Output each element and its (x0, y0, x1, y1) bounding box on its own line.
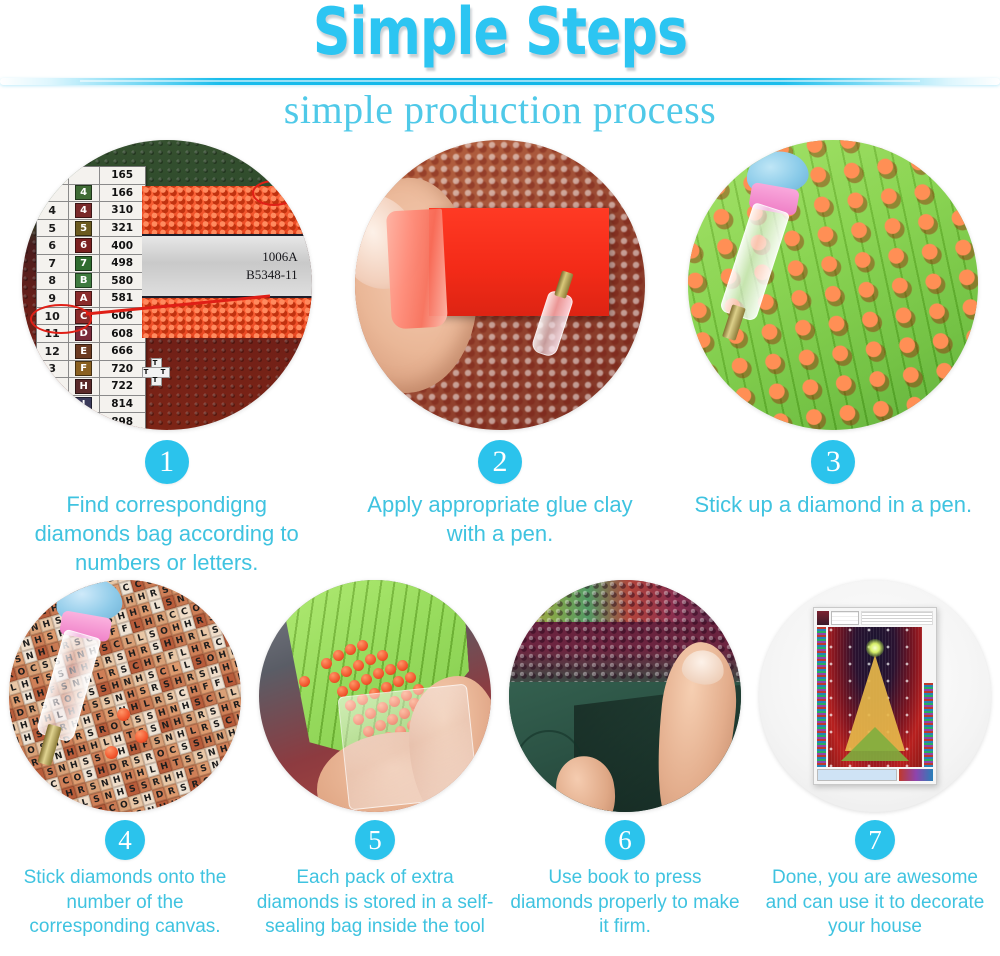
legend-row: 8B580 (37, 273, 145, 291)
step-caption-3: Stick up a diamond in a pen. (695, 490, 973, 519)
page-title: Simple Steps (50, 0, 950, 66)
instruction-text-block (861, 611, 933, 625)
diamond-bead (357, 640, 368, 651)
diamond-bead (377, 650, 388, 661)
clay-protective-film (386, 209, 448, 330)
step-badge-7: 7 (855, 820, 895, 860)
page-subtitle: simple production process (0, 86, 1000, 133)
header: Simple Steps simple production process (0, 0, 1000, 140)
legend-row-number (37, 396, 69, 413)
color-key-table (831, 611, 859, 625)
legend-row: 898 (37, 413, 145, 430)
diamond-bead (345, 644, 356, 655)
diamond-bead (341, 666, 352, 677)
step-3-photo (688, 140, 978, 430)
legend-row-number: 3 (37, 361, 69, 378)
legend-row-symbol: 5 (69, 220, 100, 237)
legend-row: 12E666 (37, 343, 145, 361)
legend-row: H722 (37, 378, 145, 396)
diamond-bead (329, 672, 340, 683)
legend-row-number: 5 (37, 220, 69, 237)
diamond-bead (299, 676, 310, 687)
diamond-bead (353, 660, 364, 671)
legend-row-symbol: H (69, 378, 100, 395)
simple-steps-infographic: Simple Steps simple production process 1… (0, 0, 1000, 956)
legend-row-code: 400 (100, 237, 145, 254)
step-badge-5: 5 (355, 820, 395, 860)
legend-row-symbol: J (69, 396, 100, 413)
legend-row: J814 (37, 396, 145, 414)
legend-row-symbol: E (69, 343, 100, 360)
footer-color-swatches (899, 769, 933, 781)
step-badge-3: 3 (811, 440, 855, 484)
diamond-bead (373, 668, 384, 679)
highlight-circle-bag-code (252, 180, 296, 206)
step-card-1: 1654166443105532166400774988B5809A58110C… (0, 140, 333, 580)
bag-label-line-2: B5348-11 (246, 266, 298, 284)
legend-row-code: 321 (100, 220, 145, 237)
step-5-photo (259, 580, 491, 812)
legend-row-symbol: 7 (69, 255, 100, 272)
legend-row-code: 666 (100, 343, 145, 360)
legend-row-number: 7 (37, 255, 69, 272)
legend-row-symbol: B (69, 273, 100, 290)
step-badge-2: 2 (478, 440, 522, 484)
legend-row-code: 165 (100, 167, 145, 184)
legend-row-code: 580 (100, 273, 145, 290)
footer-note (817, 769, 897, 781)
diamond-bead (349, 680, 360, 691)
legend-row-code: 498 (100, 255, 145, 272)
bag-label-line-1: 1006A (262, 248, 297, 266)
steps-row-bottom: SHNHSCLLSOHHRSNHHHLHTSSNHSRSHRSHHRLSNHSS… (0, 580, 1000, 956)
step-card-6: 6 Use book to press diamonds properly to… (500, 580, 750, 956)
red-glue-clay-sheet (429, 208, 609, 316)
step-card-4: SHNHSCLLSOHHRSNHHHLHTSSNHSRSHRSHHRLSNHSS… (0, 580, 250, 956)
step-2-photo (355, 140, 645, 430)
placed-bead (135, 730, 148, 743)
diamond-bead (321, 658, 332, 669)
step-caption-5: Each pack of extra diamonds is stored in… (255, 866, 495, 940)
legend-row-number: 8 (37, 273, 69, 290)
tree-base-foliage (841, 727, 909, 761)
step-caption-2: Apply appropriate glue clay with a pen. (350, 490, 650, 548)
legend-row-number: 12 (37, 343, 69, 360)
legend-row: 66400 (37, 237, 145, 255)
legend-row-code: 166 (100, 185, 145, 202)
step-card-5: 5 Each pack of extra diamonds is stored … (250, 580, 500, 956)
legend-row-number (37, 378, 69, 395)
diamond-bead (365, 654, 376, 665)
step-6-photo (509, 580, 741, 812)
legend-row-symbol (69, 413, 100, 430)
preview-thumbnail (817, 611, 829, 625)
legend-row: 44310 (37, 202, 145, 220)
step-card-3: 3 Stick up a diamond in a pen. (667, 140, 1000, 580)
diamond-bead (361, 674, 372, 685)
legend-row-number (37, 185, 69, 202)
diamond-bead (333, 650, 344, 661)
placed-bead (117, 708, 130, 721)
legend-row-symbol: 4 (69, 185, 100, 202)
fingernail (680, 648, 725, 686)
step-badge-6: 6 (605, 820, 645, 860)
legend-row-symbol (69, 167, 100, 184)
step-caption-6: Use book to press diamonds properly to m… (505, 866, 745, 940)
step-card-7: 7 Done, you are awesome and can use it t… (750, 580, 1000, 956)
legend-row: 3F720 (37, 361, 145, 379)
step-4-photo: SHNHSCLLSOHHRSNHHHLHTSSNHSRSHRSHHRLSNHSS… (9, 580, 241, 812)
legend-row-symbol: 4 (69, 202, 100, 219)
self-sealing-bag (337, 684, 478, 811)
header-divider (0, 78, 1000, 85)
diamond-bead (397, 660, 408, 671)
step-caption-1: Find correspondigng diamonds bag accordi… (17, 490, 317, 577)
legend-row-code: 814 (100, 396, 145, 413)
steps-row-top: 1654166443105532166400774988B5809A58110C… (0, 140, 1000, 580)
christmas-tree-artwork (828, 627, 922, 767)
legend-row-symbol: 6 (69, 237, 100, 254)
diamond-bead (393, 676, 404, 687)
legend-row-code: 720 (100, 361, 145, 378)
step-7-photo (759, 580, 991, 812)
cross-symbol-marker: TT TT (142, 358, 168, 384)
step-caption-4: Stick diamonds onto the number of the co… (5, 866, 245, 940)
finished-diamond-painting (813, 607, 937, 785)
right-color-strip (924, 683, 933, 767)
pen-metal-tip (554, 270, 573, 298)
pen-barrel (35, 629, 101, 743)
legend-row: 77498 (37, 255, 145, 273)
poster-footer (817, 769, 933, 781)
legend-row-code: 310 (100, 202, 145, 219)
diamond-bead (385, 664, 396, 675)
legend-row: 165 (37, 167, 145, 185)
diamond-bead (405, 672, 416, 683)
legend-row-code: 608 (100, 325, 145, 342)
step-card-2: 2 Apply appropriate glue clay with a pen… (333, 140, 666, 580)
poster-body (817, 627, 933, 767)
step-badge-1: 1 (145, 440, 189, 484)
red-connector-arrow (82, 292, 274, 320)
legend-row: 4166 (37, 185, 145, 203)
left-color-strip (817, 627, 826, 767)
legend-row-code: 722 (100, 378, 145, 395)
legend-row-code: 898 (100, 413, 145, 430)
placed-bead (105, 746, 118, 759)
legend-row-number: 6 (37, 237, 69, 254)
step-badge-4: 4 (105, 820, 145, 860)
legend-row-symbol: F (69, 361, 100, 378)
legend-row-number (37, 167, 69, 184)
legend-row-number (37, 413, 69, 430)
step-caption-7: Done, you are awesome and can use it to … (755, 866, 995, 940)
poster-header (817, 611, 933, 625)
legend-row-number: 4 (37, 202, 69, 219)
bag-label: 1006A B5348-11 (142, 234, 312, 298)
legend-row: 55321 (37, 220, 145, 238)
step-1-photo: 1654166443105532166400774988B5809A58110C… (22, 140, 312, 430)
